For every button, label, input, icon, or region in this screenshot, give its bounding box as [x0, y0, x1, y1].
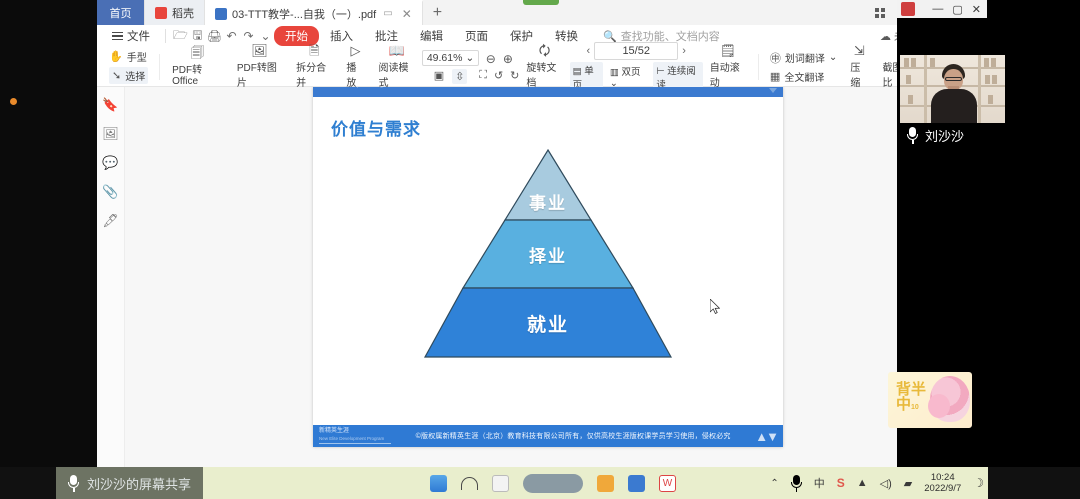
slide-page: New Elite Development Program 价值与需求 事业	[313, 87, 783, 447]
translate-word-icon: ㊥	[770, 50, 781, 66]
auto-scroll-icon: 🗒	[720, 44, 737, 57]
undo-icon[interactable]: ↶	[223, 29, 240, 43]
taskbar-pdf-icon[interactable]	[628, 475, 645, 492]
taskbar-app-icons: W	[430, 467, 676, 499]
clock-time: 10:24	[924, 472, 961, 483]
taskbar-widget-pill[interactable]	[523, 474, 583, 493]
tab-protect[interactable]: 保护	[499, 26, 544, 46]
slide-top-band: New Elite Development Program	[313, 87, 783, 97]
hand-label: 手型	[127, 49, 147, 64]
video-minimize-button[interactable]: —	[932, 3, 943, 16]
pdf-to-office-icon: 🗐	[191, 46, 204, 59]
pdf-to-image-icon: 🖼	[251, 44, 268, 57]
participant-body	[931, 89, 977, 123]
mouse-cursor-icon	[710, 299, 720, 314]
video-close-button[interactable]: ✕	[972, 3, 981, 16]
pyramid-layer-bottom: 就业	[423, 304, 673, 342]
page-navigation-group: ‹ 15/52 › ▤ 单页 ▥ 双页 ⌄ ⊢	[570, 42, 703, 92]
zoom-in-icon[interactable]: ⊕	[503, 52, 513, 66]
rotate-left-icon[interactable]: ↺	[494, 69, 503, 82]
attachment-icon[interactable]: 📎	[103, 184, 118, 199]
zoom-buttons: ⊖ ⊕ ⛶ ↺ ↻	[479, 52, 519, 82]
taskbar-left-mask	[0, 467, 56, 499]
fit-width-icon[interactable]: ⇳	[452, 69, 467, 84]
select-label: 选择	[125, 68, 145, 83]
sticker-text: 背半 中10	[896, 382, 926, 415]
hand-select-group: ✋ 手型 ➘ 选择	[103, 49, 154, 84]
pdf-to-image-button[interactable]: 🖼 PDF转图片	[230, 44, 289, 89]
tray-expand-icon[interactable]: ⌃	[770, 478, 778, 489]
video-panel-titlebar: — ▢ ✕	[897, 0, 987, 18]
slide-prev-footer-text: New Elite Development Program	[319, 87, 392, 89]
sticker-overlay: 背半 中10	[888, 372, 972, 428]
translate-full-label: 全文翻译	[784, 69, 824, 84]
slide-footer-mark: ▲▼	[755, 429, 777, 444]
double-page-mode[interactable]: ▥ 双页 ⌄	[610, 64, 647, 89]
translate-full-button[interactable]: ▦ 全文翻译	[770, 69, 837, 84]
tab-close-icon[interactable]: ✕	[402, 7, 412, 21]
battery-icon[interactable]: ▰	[904, 477, 912, 490]
pyramid-layer-bottom-label: 就业	[527, 310, 569, 337]
split-merge-button[interactable]: 🗎 拆分合并	[289, 44, 339, 89]
ime-indicator[interactable]: 中	[814, 475, 825, 491]
hamburger-icon	[112, 32, 123, 40]
hand-tool[interactable]: ✋ 手型	[109, 49, 148, 64]
screen-root: 首页 稻壳 03-TTT教学-...自我（一）.pdf ▭ ✕ + — ▢ ✕	[0, 0, 1080, 499]
sogou-icon[interactable]: S	[837, 476, 845, 490]
compress-button[interactable]: ⇲ 压缩	[843, 44, 875, 89]
zoom-group: 49.61% ⌄ ▣ ⇳	[422, 50, 479, 84]
tab-docer-label: 稻壳	[172, 5, 194, 21]
double-page-icon: ▥	[610, 67, 619, 78]
page-indicator[interactable]: 15/52	[594, 42, 678, 60]
translate-group: ㊥ 划词翻译 ⌄ ▦ 全文翻译	[764, 50, 843, 84]
taskbar-folder-icon[interactable]	[597, 475, 614, 492]
rotate-document-button[interactable]: 🗘 旋转文档	[519, 44, 569, 89]
taskbar-right-mask	[988, 467, 1080, 499]
bookmark-icon[interactable]: 🔖	[103, 97, 118, 112]
desktop-background-left	[0, 0, 97, 467]
hand-icon: ✋	[109, 50, 123, 63]
video-maximize-button[interactable]: ▢	[952, 3, 962, 16]
taskbar-search-icon[interactable]	[461, 477, 478, 490]
pdf-to-office-button[interactable]: 🗐 PDF转Office	[165, 46, 230, 87]
open-folder-icon[interactable]: 🗁	[172, 26, 189, 47]
sticker-character-face	[928, 394, 950, 418]
double-page-label: 双页	[621, 67, 640, 78]
participant-name-row: 刘沙沙	[907, 126, 964, 145]
glasses-icon	[945, 77, 962, 81]
read-mode-button[interactable]: 📖 阅读模式	[372, 44, 422, 89]
save-icon[interactable]: 🖫	[189, 26, 206, 47]
participant-name: 刘沙沙	[925, 126, 964, 145]
apps-grid-icon[interactable]	[875, 8, 885, 18]
browser-tab-bar: 首页 稻壳 03-TTT教学-...自我（一）.pdf ▭ ✕ + — ▢ ✕	[97, 0, 985, 25]
translate-word-button[interactable]: ㊥ 划词翻译 ⌄	[770, 50, 837, 66]
translate-full-icon: ▦	[770, 70, 780, 83]
sticker-small: 10	[911, 404, 919, 411]
slide-footer-copyright: ©版权属新精英生涯（北京）教育科技有限公司所有，仅供高校生涯版权课学员学习使用，…	[391, 431, 755, 441]
divider	[165, 29, 166, 43]
slide-title: 价值与需求	[331, 115, 783, 140]
notification-moon-icon[interactable]: ☽	[973, 476, 984, 490]
split-merge-label: 拆分合并	[296, 59, 332, 89]
desktop-dot	[10, 98, 17, 105]
taskbar-window-icon[interactable]	[492, 475, 509, 492]
split-merge-icon: 🗎	[309, 44, 319, 57]
zoom-value-box[interactable]: 49.61% ⌄	[422, 50, 479, 66]
ribbon-toolbar: ✋ 手型 ➘ 选择 🗐 PDF转Office 🖼 PDF转图片 🗎 拆分合并	[97, 47, 985, 87]
stamp-icon[interactable]: 🖋	[103, 213, 118, 228]
pdf-icon	[215, 8, 227, 20]
slide-footer-logo-cn: 新精英生涯	[319, 428, 391, 435]
volume-icon[interactable]: ◁)	[880, 477, 892, 490]
chevron-down-icon: ⌄	[465, 52, 474, 64]
redo-icon[interactable]: ↷	[240, 29, 257, 43]
windows-taskbar: 刘沙沙的屏幕共享 W ⌃ 中 S ▲ ◁) ▰ 10:24 2022/9/7	[0, 467, 1080, 499]
slide-footer: 新精英生涯 New Elite Development Program ©版权属…	[313, 425, 783, 447]
pyramid-diagram: 事业 择业 就业	[423, 146, 673, 361]
fit-page-icon[interactable]: ▣	[434, 69, 444, 84]
slide-footer-logo-en: New Elite Development Program	[319, 435, 391, 442]
microphone-icon	[907, 127, 918, 144]
document-canvas[interactable]: New Elite Development Program 价值与需求 事业	[125, 87, 985, 467]
microphone-icon	[68, 475, 79, 492]
app-logo-icon	[901, 2, 915, 16]
read-mode-label: 阅读模式	[379, 59, 415, 89]
pyramid-layer-middle: 择业	[423, 236, 673, 272]
video-tile[interactable]	[900, 55, 1005, 123]
tab-pdf-label: 03-TTT教学-...自我（一）.pdf	[232, 6, 376, 22]
zoom-out-icon[interactable]: ⊖	[486, 52, 496, 66]
tab-pin-icon[interactable]: ▭	[383, 8, 392, 19]
pdf-reader-window: 首页 稻壳 03-TTT教学-...自我（一）.pdf ▭ ✕ + — ▢ ✕	[97, 0, 985, 467]
auto-scroll-button[interactable]: 🗒 自动滚动	[703, 44, 753, 89]
screen-share-status[interactable]: 刘沙沙的屏幕共享	[56, 467, 203, 499]
tab-page[interactable]: 页面	[454, 26, 499, 46]
divider	[758, 54, 759, 80]
select-tool[interactable]: ➘ 选择	[109, 67, 148, 84]
tab-pdf-document[interactable]: 03-TTT教学-...自我（一）.pdf ▭ ✕	[205, 0, 423, 25]
pdf-to-image-label: PDF转图片	[237, 59, 282, 89]
wifi-icon[interactable]: ▲	[857, 477, 868, 489]
slide-caret-icon	[769, 88, 777, 93]
tab-home[interactable]: 首页	[97, 0, 145, 25]
rotate-document-label: 旋转文档	[526, 59, 562, 89]
sticker-line2: 中	[896, 396, 911, 413]
pdf-to-office-label: PDF转Office	[172, 61, 223, 87]
left-sidebar: 🔖 🖼 💬 📎 🖋	[97, 87, 125, 467]
new-tab-button[interactable]: +	[423, 0, 452, 25]
file-menu[interactable]: 文件	[103, 28, 159, 44]
compress-label: 压缩	[850, 59, 868, 89]
continuous-scroll-icon: ⊢	[656, 66, 664, 77]
tab-home-label: 首页	[110, 5, 132, 21]
compress-icon: ⇲	[854, 44, 865, 57]
slide-footer-logo: 新精英生涯 New Elite Development Program	[319, 428, 391, 444]
file-menu-label: 文件	[127, 28, 150, 44]
print-icon[interactable]: 🖨	[206, 29, 223, 43]
customize-icon[interactable]: ⌄	[257, 29, 274, 43]
next-page-icon[interactable]: ›	[682, 45, 686, 57]
pyramid-layer-top-label: 事业	[529, 189, 567, 214]
taskbar-clock[interactable]: 10:24 2022/9/7	[924, 472, 961, 494]
clock-date: 2022/9/7	[924, 483, 961, 494]
read-mode-icon: 📖	[389, 44, 405, 57]
cloud-icon: ☁	[880, 30, 891, 43]
chevron-down-icon: ⌄	[829, 52, 837, 63]
taskbar-meeting-icon[interactable]: W	[659, 475, 676, 492]
rotate-right-icon[interactable]: ↻	[510, 69, 519, 82]
play-button[interactable]: ▷ 播放	[339, 44, 371, 89]
translate-word-label: 划词翻译	[785, 50, 825, 65]
thumbnail-icon[interactable]: 🖼	[103, 126, 118, 141]
tab-edit[interactable]: 编辑	[409, 26, 454, 46]
document-body: 🔖 🖼 💬 📎 🖋 New Elite Development Program …	[97, 87, 985, 467]
crop-icon[interactable]: ⛶	[479, 69, 487, 82]
comment-icon[interactable]: 💬	[103, 155, 118, 170]
divider	[159, 54, 160, 80]
pyramid-layer-middle-label: 择业	[529, 242, 567, 267]
pyramid-layer-top: 事业	[423, 184, 673, 218]
cursor-icon: ➘	[112, 69, 121, 82]
zoom-value: 49.61%	[427, 52, 463, 64]
sticker-line1b: 半	[911, 381, 926, 398]
taskbar-explorer-icon[interactable]	[430, 475, 447, 492]
red-flower-icon	[155, 7, 167, 19]
system-tray: ⌃ 中 S ▲ ◁) ▰ 10:24 2022/9/7 ☽	[770, 467, 984, 499]
auto-scroll-label: 自动滚动	[710, 59, 746, 89]
rotate-document-icon: 🗘	[539, 44, 551, 57]
play-label: 播放	[346, 59, 364, 89]
single-page-icon: ▤	[573, 66, 582, 77]
screen-share-indicator	[523, 0, 559, 5]
tray-microphone-icon[interactable]	[791, 475, 802, 492]
tab-docer[interactable]: 稻壳	[145, 0, 205, 25]
prev-page-icon[interactable]: ‹	[587, 45, 591, 57]
screen-share-label: 刘沙沙的屏幕共享	[87, 474, 191, 493]
play-icon: ▷	[350, 44, 360, 57]
